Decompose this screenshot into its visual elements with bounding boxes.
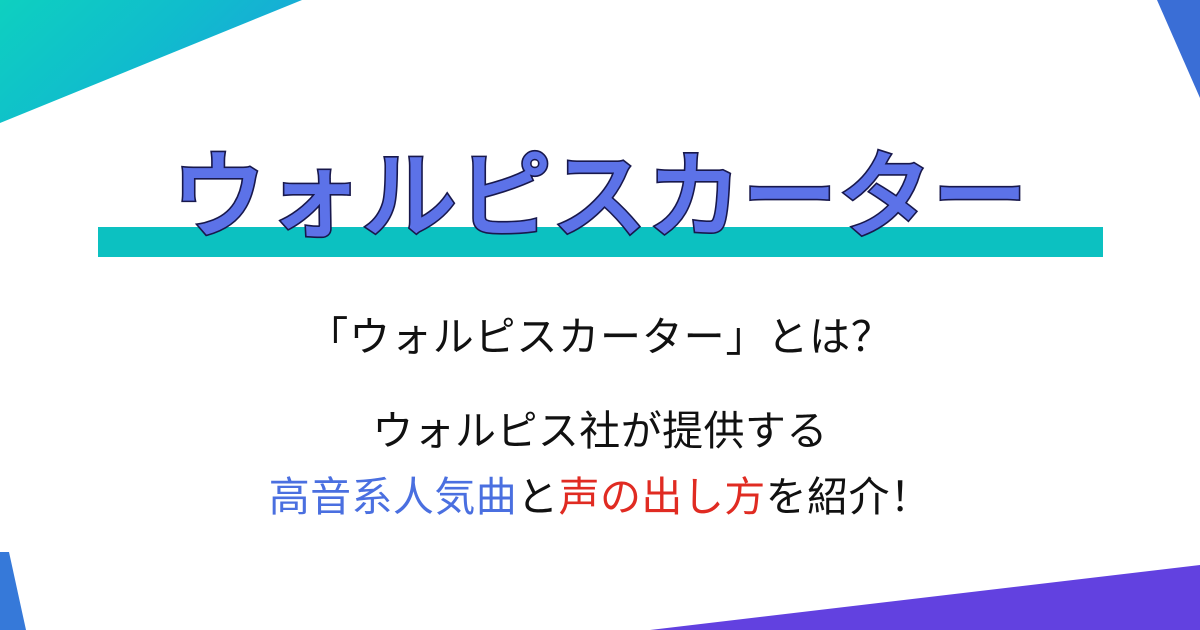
- connector-text-2: を紹介！: [766, 473, 932, 521]
- subtitle-line-2: 高音系人気曲と声の出し方を紹介！: [0, 464, 1200, 530]
- headline-block: ウォルピスカーター: [0, 138, 1200, 266]
- lead-question: 「ウォルピスカーター」とは？: [0, 300, 1200, 374]
- subtitle-line-1: ウォルピス社が提供する: [0, 398, 1200, 464]
- page-title: ウォルピスカーター: [0, 138, 1200, 258]
- teal-gradient-wedge-icon: [0, 0, 302, 123]
- body-copy: 「ウォルピスカーター」とは？ ウォルピス社が提供する 高音系人気曲と声の出し方を…: [0, 300, 1200, 530]
- blue-sliver-icon: [0, 552, 26, 630]
- highlight-red-text: 声の出し方: [559, 473, 766, 521]
- highlight-blue-text: 高音系人気曲: [269, 473, 517, 521]
- purple-wedge-icon: [650, 565, 1200, 630]
- blue-wedge-icon: [1157, 0, 1200, 98]
- connector-text-1: と: [517, 473, 558, 521]
- thumbnail-canvas: ウォルピスカーター 「ウォルピスカーター」とは？ ウォルピス社が提供する 高音系…: [0, 0, 1200, 630]
